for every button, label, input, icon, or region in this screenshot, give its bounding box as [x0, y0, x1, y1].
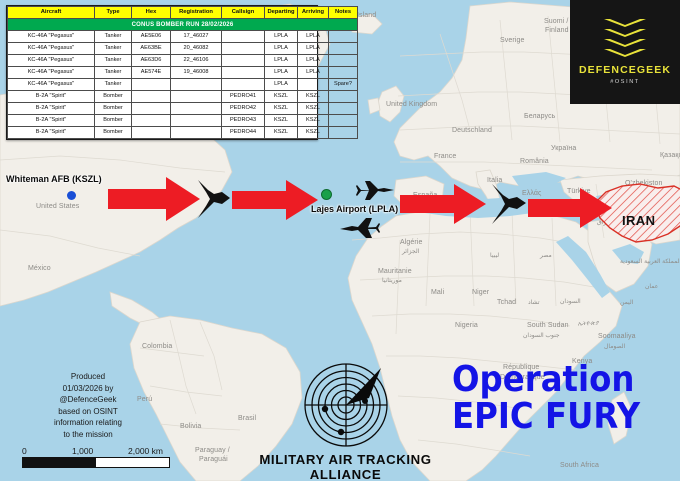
map-label-37: السودان [560, 298, 581, 305]
whiteman-afb-label: Whiteman AFB (KSZL) [6, 174, 102, 184]
cell-notes [329, 103, 358, 115]
cell-notes [329, 55, 358, 67]
map-label-2: Colombia [142, 343, 172, 350]
table-row: KC-46A "Pegasus"TankerAE63BE20_46082LPLA… [8, 43, 358, 55]
cell-arriving: KSZL [298, 91, 329, 103]
map-label-42: ኢትዮጵያ [578, 321, 599, 328]
cell-notes [329, 91, 358, 103]
map-label-10: Finland [545, 27, 569, 34]
chevron-icon-1 [604, 19, 646, 27]
cell-departing: KSZL [265, 103, 298, 115]
cell-aircraft: KC-46A "Pegasus" [8, 55, 95, 67]
map-label-4: Bolivia [180, 423, 201, 430]
cell-aircraft: KC-46A "Pegasus" [8, 43, 95, 55]
cell-hex: AE63BE [132, 43, 171, 55]
cell-aircraft: KC-46A "Pegasus" [8, 67, 95, 79]
map-label-16: Україна [551, 145, 576, 152]
cell-type: Bomber [95, 115, 132, 127]
cell-callsign [222, 79, 265, 91]
flight-table-card: Aircraft Type Hex Registration Callsign … [6, 5, 318, 140]
cell-callsign: PEDRO42 [222, 103, 265, 115]
cell-callsign [222, 43, 265, 55]
iran-label: IRAN [622, 213, 655, 228]
cell-notes: Spare? [329, 79, 358, 91]
map-label-0: United States [36, 203, 79, 210]
tanker-aircraft-icon-1 [356, 180, 396, 202]
cell-hex [132, 127, 171, 139]
chevron-icon-2 [604, 29, 646, 37]
map-label-9: Suomi / [544, 18, 568, 25]
map-label-24: Қазақстан [660, 152, 680, 159]
cell-hex [132, 103, 171, 115]
table-row: KC-46A "Pegasus"TankerLPLASpare? [8, 79, 358, 91]
map-label-32: مصر [540, 252, 552, 259]
mata-logo: MILITARY AIR TRACKING ALLIANCE An #OSINT… [243, 362, 448, 481]
b2-spirit-silhouette-2 [490, 182, 530, 226]
tanker-aircraft-icon-2 [338, 216, 380, 240]
map-label-27: الجزائر [402, 248, 419, 255]
map-label-29: Mauritanie [378, 268, 412, 275]
scale-tick-2: 2,000 km [128, 446, 163, 456]
cell-hex [132, 115, 171, 127]
cell-hex: AE63D6 [132, 55, 171, 67]
cell-type: Bomber [95, 127, 132, 139]
chevron-icon-4 [604, 49, 646, 57]
map-label-35: Tchad [497, 299, 516, 306]
cell-arriving: KSZL [298, 103, 329, 115]
cell-departing: KSZL [265, 91, 298, 103]
cell-callsign: PEDRO41 [222, 91, 265, 103]
cell-registration [171, 127, 222, 139]
flight-table-head: Aircraft Type Hex Registration Callsign … [8, 7, 358, 19]
chevron-icon-3 [604, 39, 646, 47]
cell-aircraft: B-2A "Spirit" [8, 103, 95, 115]
defencegeek-tagline: #OSINT [610, 79, 639, 85]
map-label-31: ليبيا [490, 252, 499, 259]
cell-registration [171, 91, 222, 103]
cell-arriving: LPLA [298, 43, 329, 55]
cell-aircraft: B-2A "Spirit" [8, 115, 95, 127]
table-row: B-2A "Spirit"BomberPEDRO42KSZLKSZL [8, 103, 358, 115]
column-header-callsign: Callsign [222, 7, 265, 19]
cell-departing: LPLA [265, 67, 298, 79]
column-header-arriving: Arriving [298, 7, 329, 19]
cell-aircraft: KC-46A "Pegasus" [8, 79, 95, 91]
map-label-26: Algérie [400, 239, 423, 246]
map-label-44: Soomaaliya [598, 333, 636, 340]
map-label-14: Беларусь [524, 113, 555, 120]
map-label-36: تشاد [528, 299, 540, 306]
map-label-41: South Sudan [527, 322, 569, 329]
flight-table-header-row: Aircraft Type Hex Registration Callsign … [8, 7, 358, 19]
cell-registration: 19_46008 [171, 67, 222, 79]
scale-bar-graphic [22, 457, 170, 468]
cell-callsign [222, 55, 265, 67]
map-label-39: اليمن [620, 299, 633, 306]
cell-type: Tanker [95, 79, 132, 91]
cell-hex [132, 79, 171, 91]
credit-block: Produced 01/03/2026 by @DefenceGeek base… [18, 371, 158, 440]
map-label-15: France [434, 153, 456, 160]
table-row: KC-46A "Pegasus"TankerAE63D622_46106LPLA… [8, 55, 358, 67]
map-label-6: Paraguay / [195, 447, 230, 454]
scale-tick-labels: 0 1,000 2,000 km [22, 446, 170, 457]
cell-hex: AE574E [132, 67, 171, 79]
cell-departing: LPLA [265, 43, 298, 55]
map-label-12: United Kingdom [386, 101, 437, 108]
credit-line-4: based on OSINT [18, 406, 158, 418]
cell-type: Bomber [95, 91, 132, 103]
column-header-type: Type [95, 7, 132, 19]
route-arrow-1 [108, 175, 200, 223]
cell-type: Tanker [95, 55, 132, 67]
lajes-airport-label: Lajes Airport (LPLA) [311, 204, 398, 214]
cell-registration [171, 103, 222, 115]
map-label-33: Mali [431, 289, 444, 296]
cell-arriving: KSZL [298, 127, 329, 139]
scale-tick-0: 0 [22, 446, 27, 456]
map-label-30: موريتانيا [382, 277, 402, 284]
credit-line-6: to the mission [18, 429, 158, 441]
route-arrow-4 [528, 186, 612, 230]
operation-title: Operation EPIC FURY [452, 363, 680, 433]
cell-registration [171, 79, 222, 91]
cell-hex: AE5E06 [132, 31, 171, 43]
cell-type: Tanker [95, 67, 132, 79]
b2-spirit-silhouette-1 [196, 178, 234, 220]
table-row: B-2A "Spirit"BomberPEDRO41KSZLKSZL [8, 91, 358, 103]
cell-hex [132, 91, 171, 103]
run-banner-row: CONUS BOMBER RUN 28/02/2026 [8, 19, 358, 31]
cell-type: Bomber [95, 103, 132, 115]
cell-departing: KSZL [265, 115, 298, 127]
cell-registration: 17_46027 [171, 31, 222, 43]
route-arrow-3 [400, 182, 486, 226]
radar-scope-icon [303, 362, 389, 448]
whiteman-afb-dot [67, 191, 76, 200]
map-label-38: عمان [645, 283, 658, 290]
cell-arriving: LPLA [298, 55, 329, 67]
operation-title-line-2: EPIC FURY [452, 400, 657, 433]
map-label-8: Island [357, 12, 376, 19]
map-label-13: Deutschland [452, 127, 492, 134]
table-row: B-2A "Spirit"BomberPEDRO44KSZLKSZL [8, 127, 358, 139]
cell-arriving: KSZL [298, 115, 329, 127]
map-label-11: Sverige [500, 37, 524, 44]
cell-registration: 22_46106 [171, 55, 222, 67]
scale-tick-1: 1,000 [72, 446, 93, 456]
cell-notes [329, 127, 358, 139]
cell-callsign: PEDRO44 [222, 127, 265, 139]
infographic-root: United StatesMéxicoColombiaPerúBoliviaBr… [0, 0, 680, 481]
operation-title-line-1: Operation [452, 363, 657, 396]
column-header-notes: Notes [329, 7, 358, 19]
cell-departing: LPLA [265, 31, 298, 43]
cell-aircraft: KC-46A "Pegasus" [8, 31, 95, 43]
table-row: B-2A "Spirit"BomberPEDRO43KSZLKSZL [8, 115, 358, 127]
cell-type: Tanker [95, 43, 132, 55]
map-label-1: México [28, 265, 51, 272]
cell-arriving: LPLA [298, 31, 329, 43]
run-banner-cell: CONUS BOMBER RUN 28/02/2026 [8, 19, 358, 31]
cell-arriving: LPLA [298, 67, 329, 79]
credit-line-2: 01/03/2026 by [18, 383, 158, 395]
cell-departing: KSZL [265, 127, 298, 139]
flight-table-body: CONUS BOMBER RUN 28/02/2026 KC-46A "Pega… [8, 19, 358, 139]
defencegeek-name: DEFENCEGEEK [579, 64, 671, 76]
table-row: KC-46A "Pegasus"TankerAE5E0617_46027LPLA… [8, 31, 358, 43]
column-header-departing: Departing [265, 7, 298, 19]
map-label-34: Niger [472, 289, 489, 296]
map-label-43: جنوب السودان [523, 332, 560, 339]
cell-type: Tanker [95, 31, 132, 43]
cell-callsign: PEDRO43 [222, 115, 265, 127]
cell-notes [329, 43, 358, 55]
map-label-17: România [520, 158, 549, 165]
cell-registration: 20_46082 [171, 43, 222, 55]
route-arrow-2 [232, 178, 318, 222]
map-label-49: South Africa [560, 462, 599, 469]
column-header-hex: Hex [132, 7, 171, 19]
cell-aircraft: B-2A "Spirit" [8, 127, 95, 139]
cell-callsign [222, 31, 265, 43]
flight-table: Aircraft Type Hex Registration Callsign … [7, 6, 358, 139]
map-label-40: Nigeria [455, 322, 478, 329]
chevron-icon-stack [604, 19, 646, 57]
cell-notes [329, 31, 358, 43]
credit-line-1: Produced [18, 371, 158, 383]
column-header-aircraft: Aircraft [8, 7, 95, 19]
table-row: KC-46A "Pegasus"TankerAE574E19_46008LPLA… [8, 67, 358, 79]
map-label-7: Paraguái [199, 456, 228, 463]
scale-bar-fill [23, 458, 96, 467]
cell-aircraft: B-2A "Spirit" [8, 91, 95, 103]
credit-line-3: @DefenceGeek [18, 394, 158, 406]
map-scale-bar: 0 1,000 2,000 km [22, 446, 170, 468]
defencegeek-logo: DEFENCEGEEK #OSINT [570, 0, 680, 104]
cell-departing: LPLA [265, 79, 298, 91]
lajes-airport-dot [321, 189, 332, 200]
cell-registration [171, 115, 222, 127]
map-label-45: الصومال [604, 343, 625, 350]
cell-callsign [222, 67, 265, 79]
cell-notes [329, 115, 358, 127]
map-label-28: المملكة العربية السعودية [620, 258, 680, 265]
column-header-registration: Registration [171, 7, 222, 19]
mata-title: MILITARY AIR TRACKING ALLIANCE [243, 452, 448, 481]
cell-arriving [298, 79, 329, 91]
cell-departing: LPLA [265, 55, 298, 67]
cell-notes [329, 67, 358, 79]
credit-line-5: information relating [18, 417, 158, 429]
